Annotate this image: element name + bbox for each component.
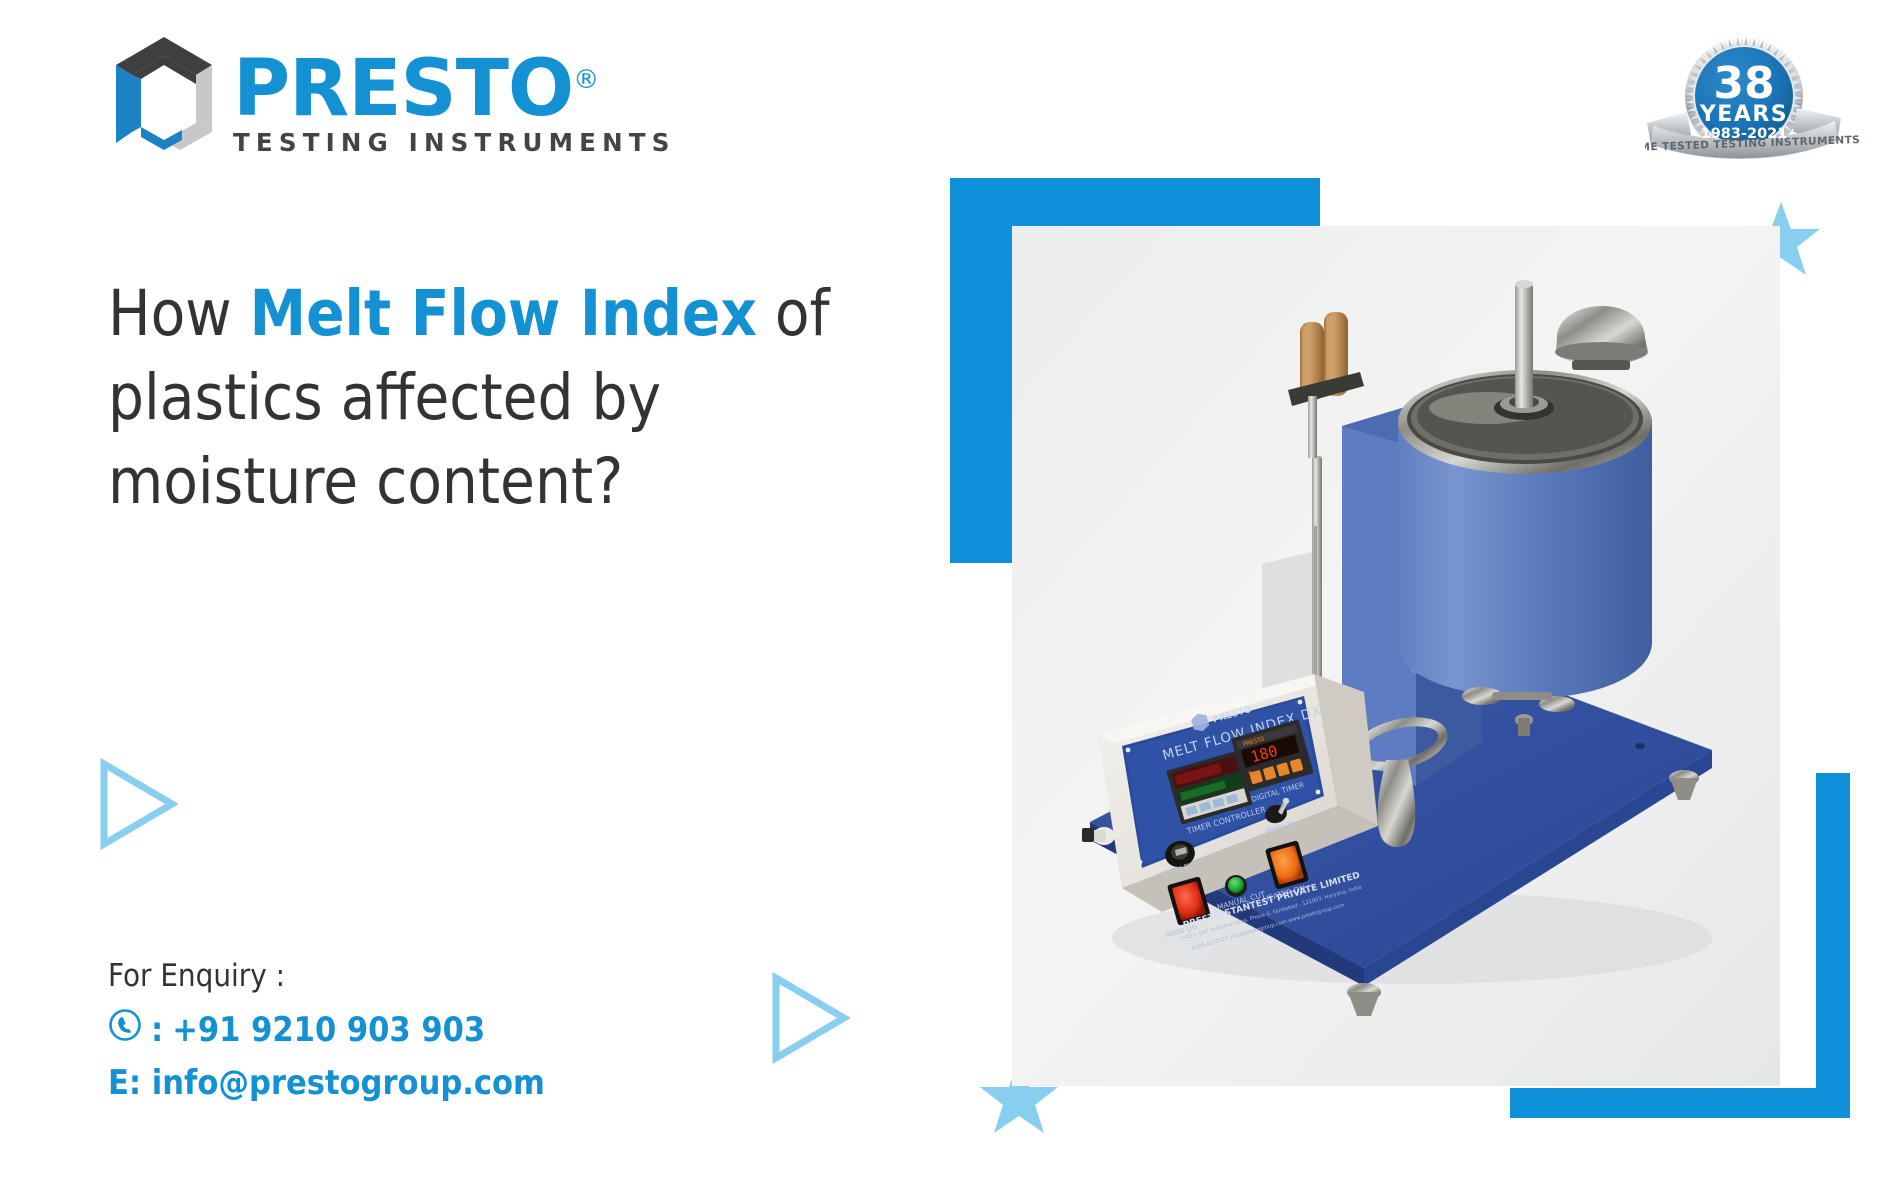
email-row[interactable]: E: info@prestogroup.com bbox=[108, 1063, 668, 1103]
brand-name-text: PRESTO bbox=[233, 44, 573, 134]
manual-cut-indicator bbox=[1225, 875, 1247, 897]
registered-mark-icon: ® bbox=[573, 65, 598, 95]
phone-separator: : bbox=[151, 1010, 163, 1050]
brand-tagline: TESTING INSTRUMENTS bbox=[233, 128, 676, 157]
product-image-stage: PRESTO MELT FLOW INDEX DX TIMER CONTROLL… bbox=[950, 178, 1850, 1118]
play-triangle-outline-icon-1 bbox=[98, 758, 178, 855]
phone-circle-icon bbox=[108, 1008, 142, 1051]
plunger-rod bbox=[1515, 284, 1533, 408]
anniversary-badge: 38 YEARS 1983-2021 TIME TESTED TESTING I… bbox=[1645, 28, 1860, 173]
headline-part-1: How bbox=[108, 277, 250, 350]
phone-number[interactable]: +91 9210 903 903 bbox=[172, 1010, 485, 1050]
play-triangle-outline-icon-2 bbox=[770, 972, 850, 1069]
brand-logo: PRESTO® TESTING INSTRUMENTS bbox=[108, 32, 688, 162]
page-headline: How Melt Flow Index of plastics affected… bbox=[108, 272, 898, 523]
email-address[interactable]: info@prestogroup.com bbox=[152, 1063, 545, 1103]
contact-block: For Enquiry : : +91 9210 903 903 E: info… bbox=[108, 958, 668, 1103]
brand-wordmark: PRESTO® TESTING INSTRUMENTS bbox=[233, 52, 676, 157]
email-label: E: bbox=[108, 1063, 141, 1103]
presto-hexagon-logo-icon bbox=[108, 32, 220, 150]
melt-flow-index-tester-photo: PRESTO MELT FLOW INDEX DX TIMER CONTROLL… bbox=[1012, 226, 1780, 1086]
enquiry-label: For Enquiry : bbox=[108, 958, 668, 994]
badge-years-word: YEARS bbox=[1699, 102, 1788, 127]
headline-accent: Melt Flow Index bbox=[250, 277, 757, 350]
phone-row[interactable]: : +91 9210 903 903 bbox=[108, 1008, 668, 1051]
